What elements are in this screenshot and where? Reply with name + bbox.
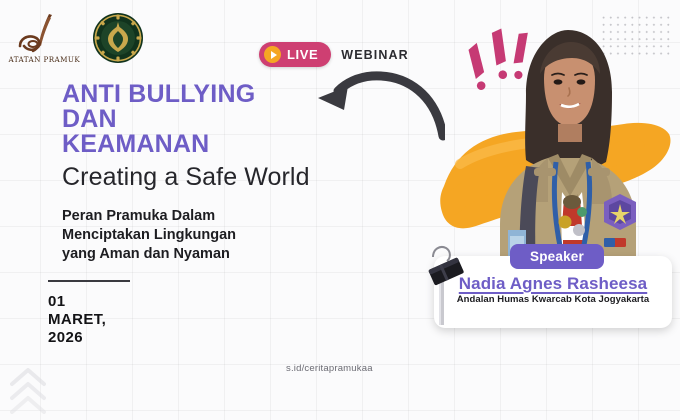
description-line-2: Menciptakan Lingkungan [62,226,236,245]
headline-subtitle: Creating a Safe World [62,164,310,191]
webinar-poster: CATATAN PRAMUKA LIVE [0,0,680,420]
speaker-role: Andalan Humas Kwarcab Kota Jogyakarta [434,294,672,305]
webinar-label: WEBINAR [341,48,408,62]
live-label: LIVE [287,47,318,62]
catatan-pramuka-logo: CATATAN PRAMUKA [8,10,80,66]
date-day: 01 [48,293,130,311]
pramuka-emblem-logo [92,12,144,64]
play-icon [264,46,281,63]
description-line-3: yang Aman dan Nyaman [62,245,236,264]
logo-row: CATATAN PRAMUKA [8,10,144,66]
date-month: MARET, [48,311,130,329]
description-line-1: Peran Pramuka Dalam [62,207,236,226]
headline-line-2: DAN [62,107,255,132]
speaker-name: Nadia Agnes Rasheesa [434,274,672,294]
date-year: 2026 [48,329,130,347]
headline-line-3: KEAMANAN [62,132,255,157]
status-badge: Speaker [510,244,604,269]
page-title: ANTI BULLYING DAN KEAMANAN [62,82,255,157]
chevron-up-icon [8,366,48,414]
live-webinar-row: LIVE WEBINAR [259,42,409,67]
curved-arrow-icon [300,66,445,154]
svg-text:CATATAN PRAMUKA: CATATAN PRAMUKA [8,55,80,64]
live-badge[interactable]: LIVE [259,42,331,67]
headline-line-1: ANTI BULLYING [62,82,255,107]
event-date: 01 MARET, 2026 [48,280,130,347]
social-handle[interactable]: s.id/ceritapramukaa [286,363,373,374]
date-divider [48,280,130,282]
description-block: Peran Pramuka Dalam Menciptakan Lingkung… [62,207,236,264]
